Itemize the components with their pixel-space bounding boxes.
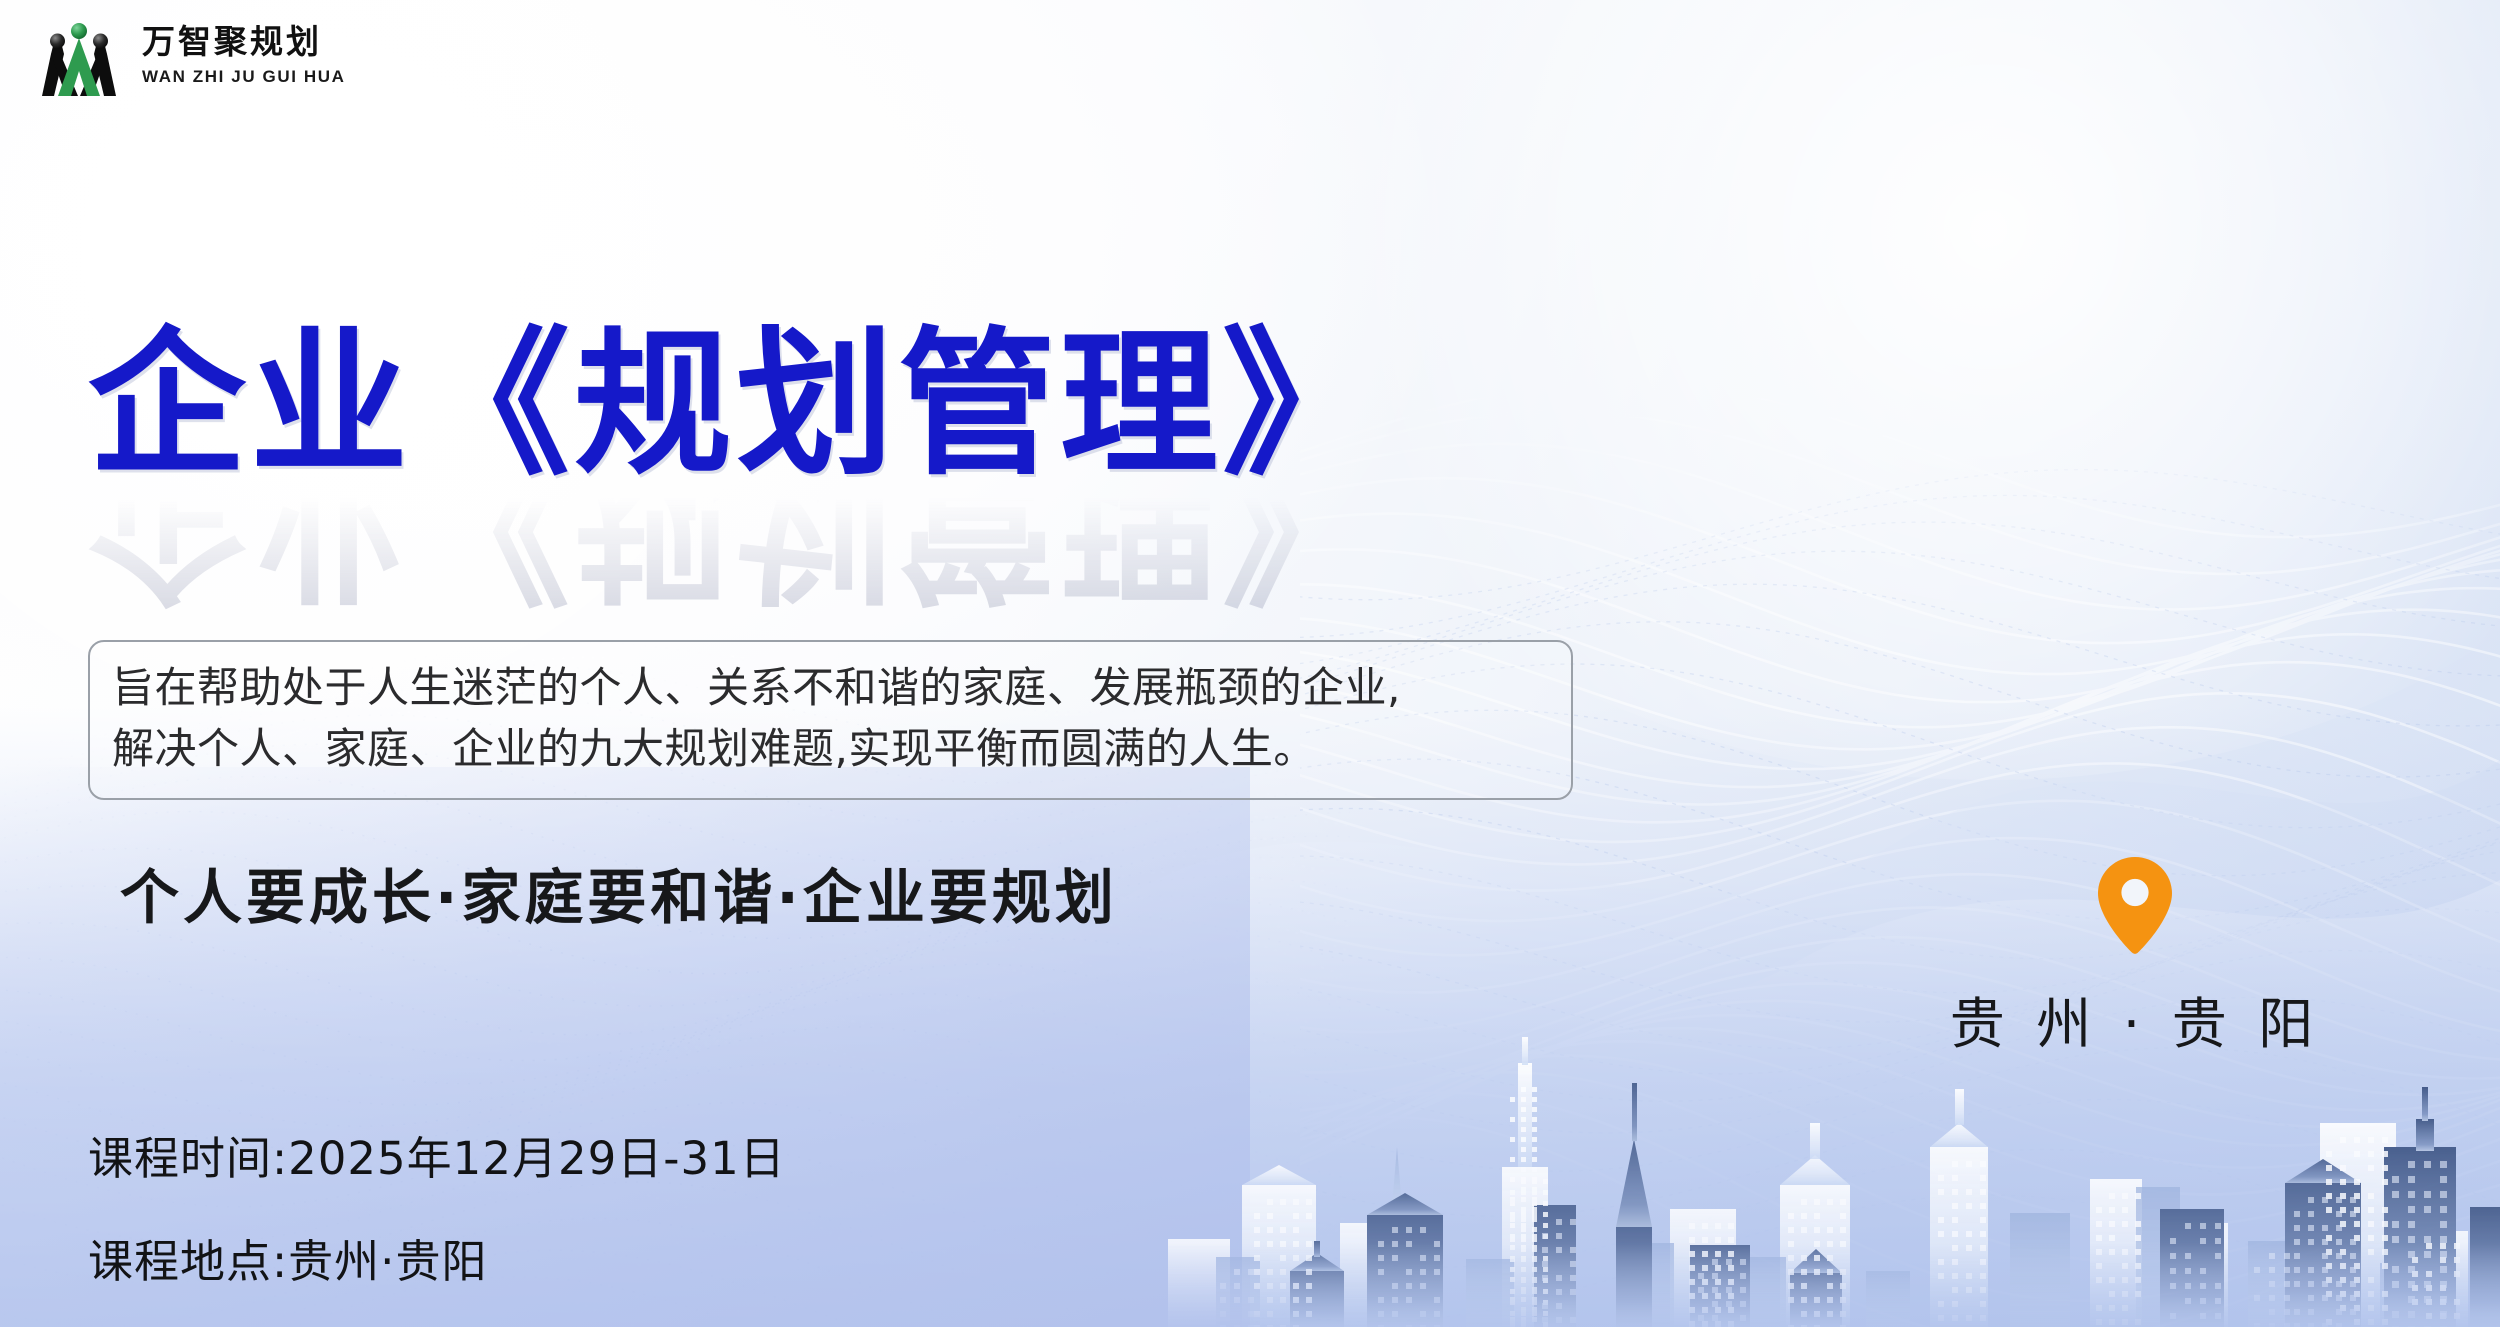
page-title: 企业《规划管理》	[88, 320, 1384, 491]
location-pin-group: 贵 州 · 贵 阳	[1955, 855, 2315, 1059]
poster-canvas: 万智聚规划 WAN ZHI JU GUI HUA 企业《规划管理》 企业《规划管…	[0, 0, 2500, 1327]
brand-name-cn: 万智聚规划	[142, 27, 346, 60]
brand-name-pinyin: WAN ZHI JU GUI HUA	[142, 68, 346, 85]
city-skyline-icon	[1130, 1027, 2500, 1327]
course-place-line: 课程地点:贵州·贵阳	[88, 1225, 786, 1290]
footer-info-block: 课程时间:2025年12月29日-31日 课程地点:贵州·贵阳	[88, 1122, 786, 1290]
page-title-reflection: 企业《规划管理》	[88, 493, 1384, 611]
three-people-logo-icon	[30, 16, 128, 96]
course-time-line: 课程时间:2025年12月29日-31日	[88, 1122, 786, 1187]
map-pin-icon	[2096, 855, 2174, 955]
slogan-text: 个人要成长·家庭要和谐·企业要规划	[120, 850, 1118, 935]
description-box: 旨在帮助处于人生迷茫的个人、关系不和谐的家庭、发展瓶颈的企业, 解决个人、家庭、…	[88, 640, 1573, 800]
brand-logo[interactable]: 万智聚规划 WAN ZHI JU GUI HUA	[30, 16, 346, 96]
description-line-1: 旨在帮助处于人生迷茫的个人、关系不和谐的家庭、发展瓶颈的企业,	[112, 658, 1549, 719]
description-line-2: 解决个人、家庭、企业的九大规划难题,实现平衡而圆满的人生。	[112, 719, 1549, 780]
hero-title-block: 企业《规划管理》 企业《规划管理》	[88, 320, 1384, 611]
brand-logo-text: 万智聚规划 WAN ZHI JU GUI HUA	[142, 27, 346, 85]
location-label: 贵 州 · 贵 阳	[1950, 979, 2320, 1059]
